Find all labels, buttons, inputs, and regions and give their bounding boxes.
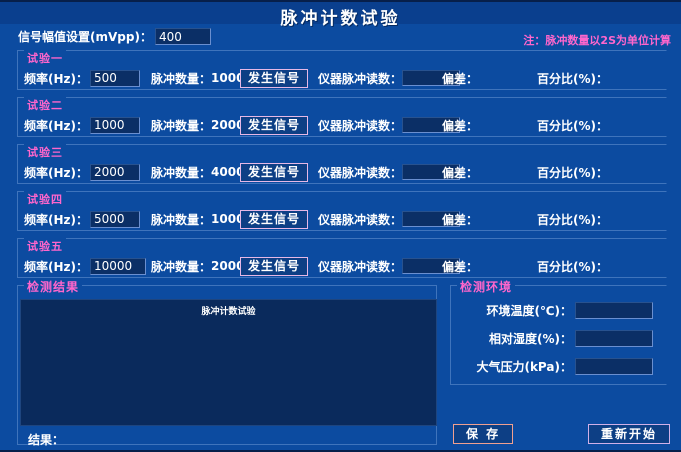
deviation-label-3: 偏差：: [442, 164, 478, 181]
result-panel-title: 脉冲计数试验: [21, 304, 436, 317]
frequency-label-1: 频率(Hz)：: [24, 70, 88, 87]
detection-result-title: 检测结果: [24, 278, 82, 295]
instrument-reading-field-5: 仪器脉冲读数：: [318, 258, 460, 275]
generate-signal-button-3[interactable]: 发生信号: [240, 163, 308, 182]
instrument-reading-label-5: 仪器脉冲读数：: [318, 258, 402, 275]
env-pressure-input[interactable]: [575, 358, 653, 375]
frequency-field-1: 频率(Hz)：: [24, 70, 140, 87]
percent-field-5: 百分比(%)：: [537, 258, 608, 275]
pulse-count-field-4: 脉冲数量： 10000: [151, 211, 253, 228]
frequency-label-2: 频率(Hz)：: [24, 117, 88, 134]
test-group-5: 试验五 频率(Hz)： 脉冲数量： 20000 发生信号 仪器脉冲读数： 偏差：: [17, 238, 667, 278]
frequency-input-2[interactable]: [90, 117, 140, 134]
percent-label-4: 百分比(%)：: [537, 211, 608, 228]
generate-signal-button-1[interactable]: 发生信号: [240, 69, 308, 88]
instrument-reading-field-3: 仪器脉冲读数：: [318, 164, 460, 181]
env-humidity-label: 相对湿度(%)：: [489, 330, 572, 347]
percent-label-1: 百分比(%)：: [537, 70, 608, 87]
instrument-reading-field-4: 仪器脉冲读数：: [318, 211, 460, 228]
result-output-panel[interactable]: 脉冲计数试验: [20, 299, 437, 426]
generate-signal-button-4[interactable]: 发生信号: [240, 210, 308, 229]
instrument-reading-field-2: 仪器脉冲读数：: [318, 117, 460, 134]
pulse-count-label-5: 脉冲数量：: [151, 258, 211, 275]
deviation-field-2: 偏差：: [442, 117, 478, 134]
percent-label-3: 百分比(%)：: [537, 164, 608, 181]
deviation-label-2: 偏差：: [442, 117, 478, 134]
frequency-label-5: 频率(Hz)：: [24, 258, 88, 275]
test-row-3: 频率(Hz)： 脉冲数量： 4000 发生信号 仪器脉冲读数： 偏差： 百分比(…: [18, 161, 666, 183]
pulse-count-label-2: 脉冲数量：: [151, 117, 211, 134]
test-group-2: 试验二 频率(Hz)： 脉冲数量： 2000 发生信号 仪器脉冲读数： 偏差：: [17, 97, 667, 137]
pulse-count-label-1: 脉冲数量：: [151, 70, 211, 87]
frequency-field-3: 频率(Hz)：: [24, 164, 140, 181]
percent-field-3: 百分比(%)：: [537, 164, 608, 181]
generate-signal-button-2[interactable]: 发生信号: [240, 116, 308, 135]
test-row-5: 频率(Hz)： 脉冲数量： 20000 发生信号 仪器脉冲读数： 偏差： 百分比…: [18, 255, 666, 277]
note-text: 注：脉冲数量以2S为单位计算: [523, 32, 671, 48]
pulse-count-field-5: 脉冲数量： 20000: [151, 258, 253, 275]
instrument-reading-label-4: 仪器脉冲读数：: [318, 211, 402, 228]
deviation-label-1: 偏差：: [442, 70, 478, 87]
env-pressure-label: 大气压力(kPa)：: [476, 358, 572, 375]
env-humidity-row: 相对湿度(%)：: [457, 330, 653, 347]
test-group-3: 试验三 频率(Hz)： 脉冲数量： 4000 发生信号 仪器脉冲读数： 偏差：: [17, 144, 667, 184]
amplitude-label: 信号幅值设置(mVpp)：: [18, 28, 152, 45]
instrument-reading-label-2: 仪器脉冲读数：: [318, 117, 402, 134]
frequency-input-4[interactable]: [90, 211, 140, 228]
env-pressure-row: 大气压力(kPa)：: [457, 358, 653, 375]
amplitude-input[interactable]: [155, 28, 211, 45]
test-group-1: 试验一 频率(Hz)： 脉冲数量： 1000 发生信号 仪器脉冲读数： 偏差：: [17, 50, 667, 90]
test-group-5-title: 试验五: [24, 238, 66, 254]
deviation-field-4: 偏差：: [442, 211, 478, 228]
detection-environment-group: 检测环境 环境温度(℃)： 相对湿度(%)： 大气压力(kPa)：: [450, 285, 667, 385]
pulse-count-field-1: 脉冲数量： 1000: [151, 70, 244, 87]
test-group-4-title: 试验四: [24, 191, 66, 207]
page-title: 脉冲计数试验: [0, 4, 681, 29]
frequency-input-5[interactable]: [90, 258, 146, 275]
deviation-field-5: 偏差：: [442, 258, 478, 275]
frequency-label-3: 频率(Hz)：: [24, 164, 88, 181]
result-summary-label: 结果：: [28, 431, 64, 448]
frequency-label-4: 频率(Hz)：: [24, 211, 88, 228]
env-humidity-input[interactable]: [575, 330, 653, 347]
frequency-field-4: 频率(Hz)：: [24, 211, 140, 228]
test-row-2: 频率(Hz)： 脉冲数量： 2000 发生信号 仪器脉冲读数： 偏差： 百分比(…: [18, 114, 666, 136]
percent-label-5: 百分比(%)：: [537, 258, 608, 275]
pulse-count-label-3: 脉冲数量：: [151, 164, 211, 181]
amplitude-setting-row: 信号幅值设置(mVpp)：: [18, 28, 211, 45]
test-group-3-title: 试验三: [24, 144, 66, 160]
generate-signal-button-5[interactable]: 发生信号: [240, 257, 308, 276]
test-group-4: 试验四 频率(Hz)： 脉冲数量： 10000 发生信号 仪器脉冲读数： 偏差：: [17, 191, 667, 231]
percent-label-2: 百分比(%)：: [537, 117, 608, 134]
test-group-1-title: 试验一: [24, 50, 66, 66]
deviation-field-1: 偏差：: [442, 70, 478, 87]
frequency-input-3[interactable]: [90, 164, 140, 181]
percent-field-2: 百分比(%)：: [537, 117, 608, 134]
percent-field-4: 百分比(%)：: [537, 211, 608, 228]
frequency-field-2: 频率(Hz)：: [24, 117, 140, 134]
deviation-field-3: 偏差：: [442, 164, 478, 181]
detection-environment-title: 检测环境: [457, 278, 515, 295]
frequency-field-5: 频率(Hz)：: [24, 258, 146, 275]
restart-button[interactable]: 重新开始: [588, 424, 670, 444]
frequency-input-1[interactable]: [90, 70, 140, 87]
deviation-label-4: 偏差：: [442, 211, 478, 228]
pulse-count-label-4: 脉冲数量：: [151, 211, 211, 228]
env-temperature-input[interactable]: [575, 302, 653, 319]
test-row-1: 频率(Hz)： 脉冲数量： 1000 发生信号 仪器脉冲读数： 偏差： 百分比(…: [18, 67, 666, 89]
pulse-count-field-3: 脉冲数量： 4000: [151, 164, 244, 181]
deviation-label-5: 偏差：: [442, 258, 478, 275]
instrument-reading-label-1: 仪器脉冲读数：: [318, 70, 402, 87]
pulse-count-field-2: 脉冲数量： 2000: [151, 117, 244, 134]
save-button[interactable]: 保 存: [453, 424, 513, 444]
instrument-reading-label-3: 仪器脉冲读数：: [318, 164, 402, 181]
test-row-4: 频率(Hz)： 脉冲数量： 10000 发生信号 仪器脉冲读数： 偏差： 百分比…: [18, 208, 666, 230]
test-group-2-title: 试验二: [24, 97, 66, 113]
env-temperature-row: 环境温度(℃)：: [457, 302, 653, 319]
instrument-reading-field-1: 仪器脉冲读数：: [318, 70, 460, 87]
env-temperature-label: 环境温度(℃)：: [486, 302, 572, 319]
application-window: 脉冲计数试验 信号幅值设置(mVpp)： 注：脉冲数量以2S为单位计算 试验一 …: [0, 0, 681, 452]
percent-field-1: 百分比(%)：: [537, 70, 608, 87]
